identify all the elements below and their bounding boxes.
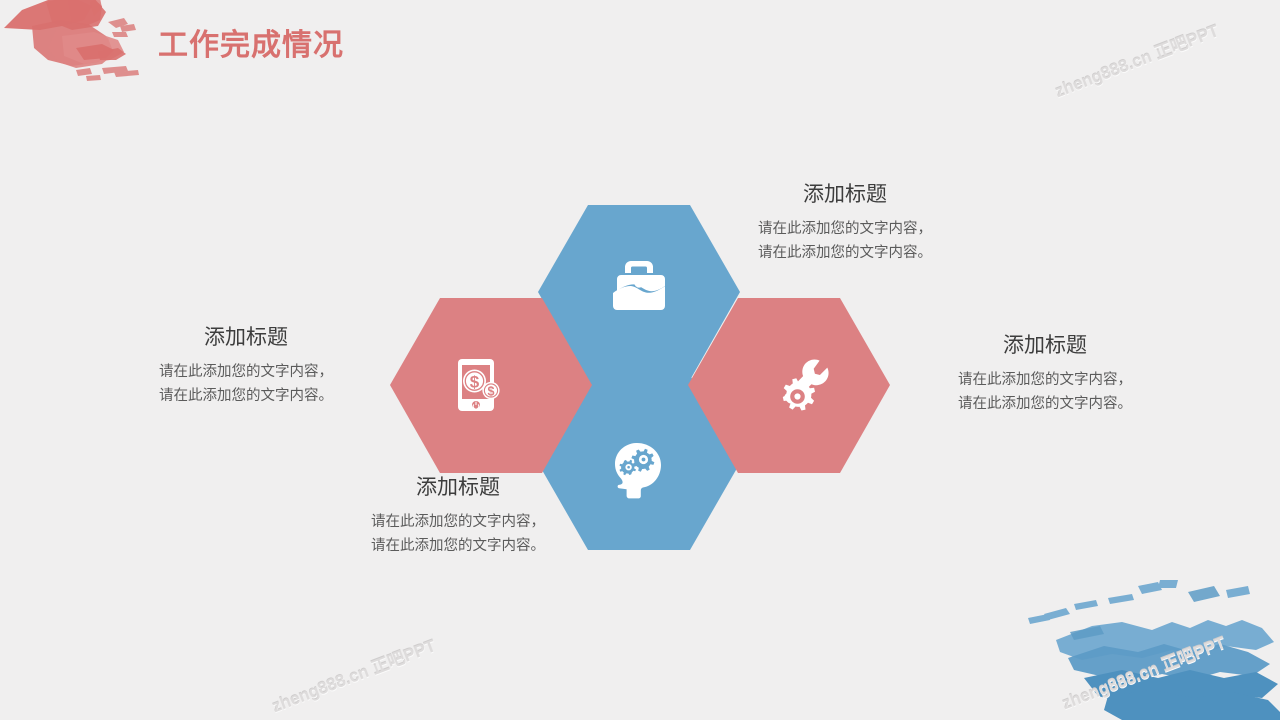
- item-body-bottom-line1: 请在此添加您的文字内容，: [313, 511, 603, 534]
- page-title: 工作完成情况: [158, 20, 344, 64]
- slide-canvas: 工作完成情况: [0, 0, 1280, 720]
- wrench-gear-icon: [770, 353, 834, 417]
- briefcase-icon: [607, 253, 671, 317]
- item-title-left: 添加标题: [101, 325, 391, 350]
- blue-ink-splash-decoration: [1012, 580, 1280, 720]
- item-body-top-line1: 请在此添加您的文字内容，: [700, 218, 990, 241]
- item-body-right-line1: 请在此添加您的文字内容，: [900, 369, 1190, 392]
- red-brush-stroke-decoration: [2, 0, 157, 92]
- text-block-bottom: 添加标题 请在此添加您的文字内容， 请在此添加您的文字内容。: [313, 475, 603, 558]
- mobile-payment-icon: $ $: [446, 353, 510, 417]
- text-block-right: 添加标题 请在此添加您的文字内容， 请在此添加您的文字内容。: [900, 333, 1190, 416]
- item-body-left: 请在此添加您的文字内容， 请在此添加您的文字内容。: [101, 361, 391, 408]
- text-block-left: 添加标题 请在此添加您的文字内容， 请在此添加您的文字内容。: [101, 325, 391, 408]
- item-title-right: 添加标题: [900, 333, 1190, 358]
- watermark-bottom-left: zheng888.cn 正吧PPT: [268, 632, 439, 718]
- item-body-top: 请在此添加您的文字内容， 请在此添加您的文字内容。: [700, 218, 990, 265]
- item-body-top-line2: 请在此添加您的文字内容。: [700, 242, 990, 265]
- hex-shape-right[interactable]: [688, 298, 890, 473]
- svg-text:$: $: [470, 373, 480, 392]
- item-body-right-line2: 请在此添加您的文字内容。: [900, 393, 1190, 416]
- item-title-top: 添加标题: [700, 182, 990, 207]
- item-body-bottom: 请在此添加您的文字内容， 请在此添加您的文字内容。: [313, 511, 603, 558]
- watermark-bottom-right: zheng888.cn 正吧PPT: [1058, 629, 1229, 715]
- head-gears-icon: [607, 437, 671, 501]
- item-body-bottom-line2: 请在此添加您的文字内容。: [313, 535, 603, 558]
- text-block-top: 添加标题 请在此添加您的文字内容， 请在此添加您的文字内容。: [700, 182, 990, 265]
- item-body-right: 请在此添加您的文字内容， 请在此添加您的文字内容。: [900, 369, 1190, 416]
- item-title-bottom: 添加标题: [313, 475, 603, 500]
- hex-shape-left[interactable]: $ $: [390, 298, 592, 473]
- item-body-left-line2: 请在此添加您的文字内容。: [101, 385, 391, 408]
- svg-text:$: $: [488, 385, 495, 399]
- item-body-left-line1: 请在此添加您的文字内容，: [101, 361, 391, 384]
- watermark-top-right: zheng888.cn 正吧PPT: [1051, 17, 1222, 103]
